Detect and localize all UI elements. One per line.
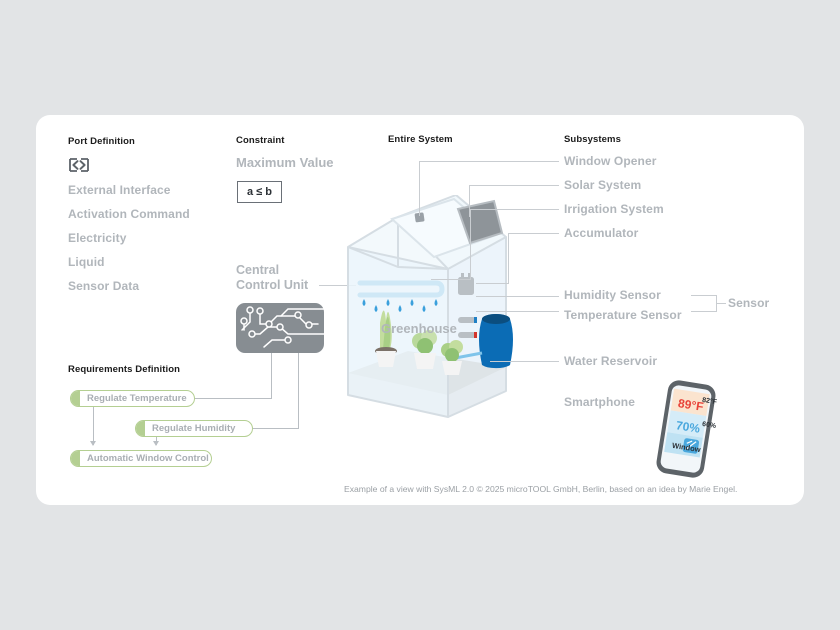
subsystem-window-opener: Window Opener <box>564 154 657 168</box>
central-control-unit-label-line1: Central <box>236 263 279 277</box>
smartphone-illustration[interactable]: 89°F 82°F 70% 60% Window <box>648 378 724 478</box>
leader-irrigation-v <box>470 209 471 279</box>
ccu-link-humidity <box>298 353 299 428</box>
leader-irrigation-h <box>470 209 559 210</box>
ccu-link-temperature <box>271 353 272 398</box>
subsystem-smartphone: Smartphone <box>564 395 635 409</box>
leader-humidity-h <box>476 296 559 297</box>
requirement-label: Automatic Window Control <box>80 453 212 464</box>
leader-reservoir-h <box>490 361 559 362</box>
sensor-bracket-stem <box>716 303 726 304</box>
footer-credit: Example of a view with SysML 2.0 © 2025 … <box>344 484 737 494</box>
requirement-automatic-window-control[interactable]: Automatic Window Control <box>70 450 212 467</box>
greenhouse-illustration: Greenhouse <box>330 195 530 430</box>
greenhouse-svg <box>330 195 530 430</box>
requirement-regulate-humidity[interactable]: Regulate Humidity <box>135 420 253 437</box>
requirements-title: Requirements Definition <box>68 364 180 375</box>
sensor-bracket-bottom <box>691 311 717 312</box>
port-item-electricity: Electricity <box>68 231 126 245</box>
leader-accumulator-h2 <box>476 283 509 284</box>
central-control-unit-label-line2: Control Unit <box>236 278 308 292</box>
port-item-activation-command: Activation Command <box>68 207 190 221</box>
sensor-group-label: Sensor <box>728 296 769 310</box>
port-definition-title: Port Definition <box>68 136 135 147</box>
port-item-sensor-data: Sensor Data <box>68 279 139 293</box>
circuit-chip-icon <box>236 303 324 353</box>
temperature-sensor-device <box>458 332 477 338</box>
subsystems-title: Subsystems <box>564 134 621 145</box>
subsystem-irrigation-system: Irrigation System <box>564 202 664 216</box>
diagram-card: Port Definition External Interface Activ… <box>36 115 804 505</box>
requirement-tab <box>136 421 145 436</box>
entire-system-title: Entire System <box>388 134 453 145</box>
water-reservoir-barrel <box>479 314 513 368</box>
constraint-name: Maximum Value <box>236 156 334 170</box>
arrow-to-window-control-2 <box>156 440 157 446</box>
humidity-sensor-device <box>458 317 477 323</box>
requirement-tab <box>71 451 80 466</box>
port-item-external-interface: External Interface <box>68 183 171 197</box>
requirement-regulate-temperature[interactable]: Regulate Temperature <box>70 390 195 407</box>
leader-accumulator-h <box>508 233 559 234</box>
constraint-title: Constraint <box>236 135 285 146</box>
port-interface-icon <box>67 155 91 175</box>
port-item-liquid: Liquid <box>68 255 105 269</box>
leader-solar-h <box>469 185 559 186</box>
leader-window-opener-h <box>419 161 559 162</box>
greenhouse-label: Greenhouse <box>381 321 457 336</box>
leader-accumulator-v <box>508 233 509 283</box>
subsystem-water-reservoir: Water Reservoir <box>564 354 657 368</box>
requirement-label: Regulate Temperature <box>80 393 195 404</box>
sensor-bracket-top <box>691 295 717 296</box>
leader-window-opener-v <box>419 161 420 216</box>
requirement-tab <box>71 391 80 406</box>
constraint-expression-box: a ≤ b <box>237 181 282 203</box>
subsystem-humidity-sensor: Humidity Sensor <box>564 288 661 302</box>
subsystem-temperature-sensor: Temperature Sensor <box>564 308 682 322</box>
requirement-label: Regulate Humidity <box>145 423 244 434</box>
leader-irrigation-h2 <box>431 279 471 280</box>
subsystem-accumulator: Accumulator <box>564 226 638 240</box>
leader-temperature-h <box>476 311 559 312</box>
constraint-expression: a ≤ b <box>237 181 282 203</box>
subsystem-solar-system: Solar System <box>564 178 641 192</box>
arrow-to-window-control-1 <box>93 440 94 446</box>
